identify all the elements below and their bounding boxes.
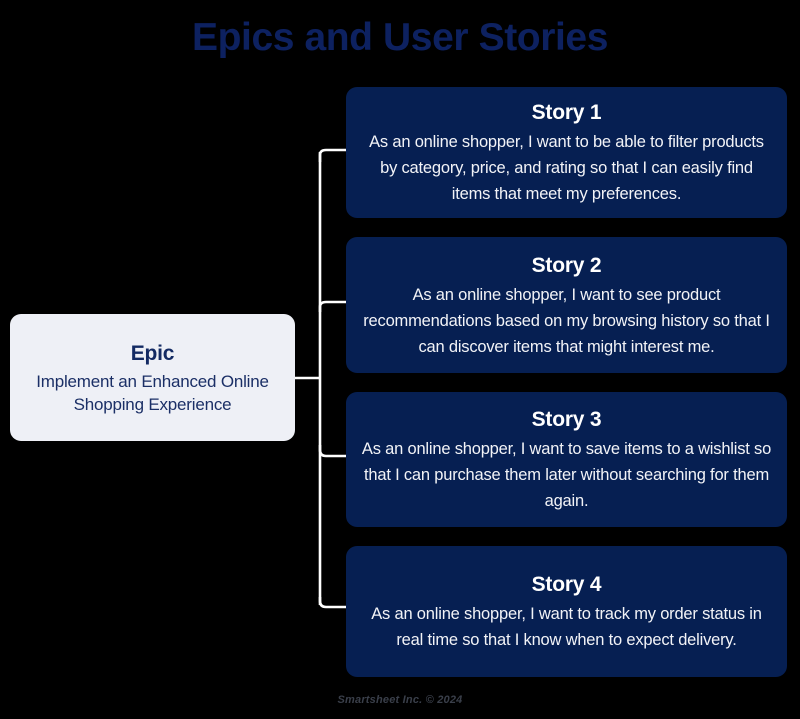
story-label: Story 4	[532, 570, 602, 599]
story-node-2[interactable]: Story 2 As an online shopper, I want to …	[346, 237, 787, 373]
epic-node[interactable]: Epic Implement an Enhanced Online Shoppi…	[10, 314, 295, 441]
story-node-4[interactable]: Story 4 As an online shopper, I want to …	[346, 546, 787, 677]
story-label: Story 3	[532, 405, 602, 434]
page-title: Epics and User Stories	[0, 14, 800, 62]
story-label: Story 1	[532, 98, 602, 127]
story-description: As an online shopper, I want to see prod…	[360, 282, 773, 360]
footer-credit: Smartsheet Inc. © 2024	[0, 694, 800, 706]
story-node-3[interactable]: Story 3 As an online shopper, I want to …	[346, 392, 787, 527]
story-description: As an online shopper, I want to track my…	[360, 601, 773, 653]
connector-branch-story-1	[320, 150, 346, 162]
connector-branch-story-2	[320, 302, 346, 312]
epic-description: Implement an Enhanced Online Shopping Ex…	[20, 370, 285, 416]
story-node-1[interactable]: Story 1 As an online shopper, I want to …	[346, 87, 787, 218]
connector-branch-story-3	[320, 445, 346, 456]
epic-label: Epic	[131, 339, 175, 369]
story-label: Story 2	[532, 251, 602, 280]
story-description: As an online shopper, I want to be able …	[360, 129, 773, 207]
story-description: As an online shopper, I want to save ite…	[360, 436, 773, 514]
connector-branch-story-4	[320, 597, 346, 607]
